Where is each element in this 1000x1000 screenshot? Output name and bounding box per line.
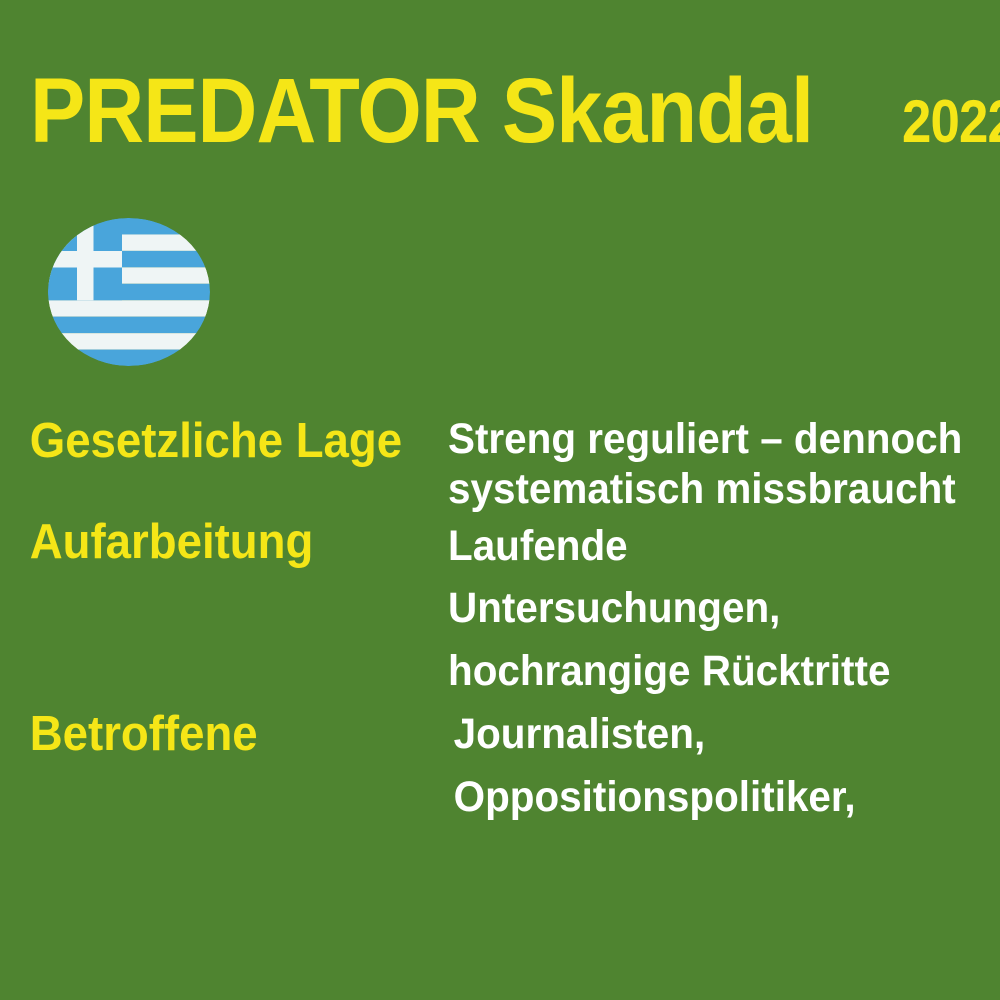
table-row: Betroffene Journalisten, Oppositionspoli… <box>0 703 1000 829</box>
value-line: systematisch missbraucht <box>448 464 967 514</box>
value-line: Journalisten, <box>454 703 967 766</box>
table-row: Aufarbeitung Laufende Untersuchungen, ho… <box>0 515 1000 703</box>
title-year-range: 2022-2023 <box>902 93 1000 150</box>
row-label-betroffene: Betroffene <box>0 703 417 762</box>
value-line: hochrangige Rücktritte <box>448 640 967 703</box>
row-value-gesetzliche-lage: Streng reguliert – dennoch systematisch … <box>448 414 967 515</box>
value-line: Oppositionspolitiker, <box>454 766 967 829</box>
value-line: Streng reguliert – dennoch <box>448 414 967 464</box>
greece-flag-circle-icon <box>48 218 210 366</box>
row-value-aufarbeitung: Laufende Untersuchungen, hochrangige Rüc… <box>448 515 967 703</box>
fact-rows: Gesetzliche Lage Streng reguliert – denn… <box>0 414 1000 828</box>
table-row: Gesetzliche Lage Streng reguliert – denn… <box>0 414 1000 515</box>
page-title: PREDATOR Skandal <box>30 68 813 155</box>
row-label-aufarbeitung: Aufarbeitung <box>0 515 417 570</box>
row-value-betroffene: Journalisten, Oppositionspolitiker, <box>448 703 967 829</box>
value-line: Laufende <box>448 515 967 578</box>
value-line: Untersuchungen, <box>448 577 967 640</box>
predator-scandal-infographic: PREDATOR Skandal 2022-2023 <box>0 0 1000 1000</box>
greece-flag-icon <box>48 218 210 366</box>
row-label-gesetzliche-lage: Gesetzliche Lage <box>0 414 417 469</box>
poster-title: PREDATOR Skandal 2022-2023 <box>30 68 990 155</box>
